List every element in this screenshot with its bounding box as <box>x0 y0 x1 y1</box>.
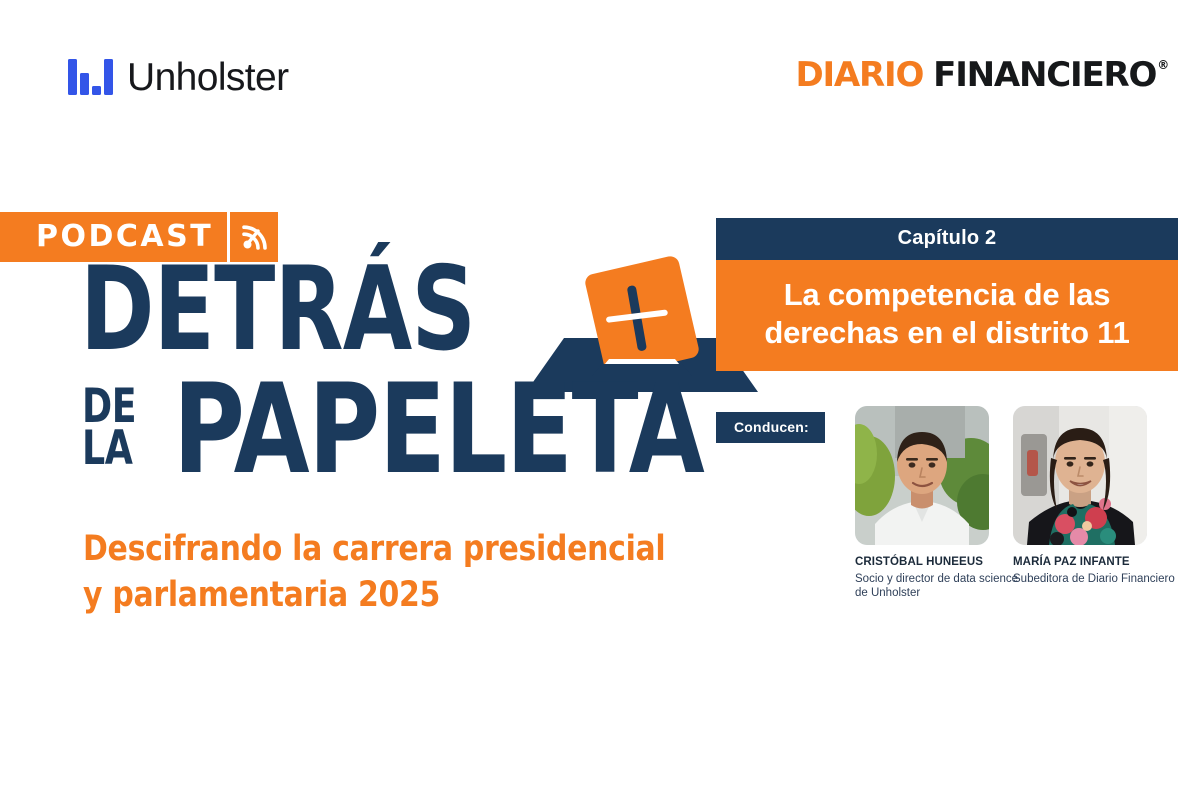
subtitle-line-1: Descifrando la carrera presidencial <box>83 527 691 573</box>
episode-number-label: Capítulo 2 <box>716 218 1178 260</box>
host-portrait-maria-paz-infante <box>1013 406 1147 545</box>
df-word-diario: DIARIO <box>795 58 923 92</box>
host-portrait-cristobal-huneeus <box>855 406 989 545</box>
title-stack-de-la: DE LA <box>82 388 145 467</box>
df-word-financiero: FINANCIERO <box>933 58 1156 92</box>
host-name: CRISTÓBAL HUNEEUS <box>855 556 989 570</box>
episode-title: La competencia de las derechas en el dis… <box>716 260 1178 371</box>
title-word-la: LA <box>82 430 136 468</box>
hosts-label: Conducen: <box>716 412 825 443</box>
host-card-list: CRISTÓBAL HUNEEUS Socio y director de da… <box>855 406 1147 601</box>
host-card: CRISTÓBAL HUNEEUS Socio y director de da… <box>855 406 989 601</box>
podcast-promo-graphic: Unholster DIARIO FINANCIERO ® PODCAST <box>0 0 1200 800</box>
bar-chart-logo-mark-icon <box>68 57 116 97</box>
host-role-line-1: Subeditora de Diario Financiero <box>1013 572 1200 586</box>
hosts-section: Conducen: <box>716 406 1178 616</box>
registered-trademark-icon: ® <box>1157 59 1168 71</box>
diario-financiero-logo: DIARIO FINANCIERO ® <box>795 58 1168 92</box>
host-name: MARÍA PAZ INFANTE <box>1013 556 1147 570</box>
title-line-papeleta: PAPELETA <box>173 380 703 482</box>
title-line-detras: DETRÁS <box>80 262 475 357</box>
episode-panel: Capítulo 2 La competencia de las derecha… <box>716 218 1178 371</box>
episode-title-line-2: derechas en el distrito 11 <box>738 314 1156 352</box>
subtitle-line-2: y parlamentaria 2025 <box>83 573 691 619</box>
episode-title-line-1: La competencia de las <box>738 276 1156 314</box>
show-title-lockup: DETRÁS DE LA PAPELETA <box>78 262 718 522</box>
host-card: MARÍA PAZ INFANTE Subeditora de Diario F… <box>1013 406 1147 601</box>
show-subtitle: Descifrando la carrera presidencial y pa… <box>83 527 691 618</box>
unholster-logo: Unholster <box>68 57 289 97</box>
host-role: Subeditora de Diario Financiero <box>1013 572 1200 586</box>
unholster-wordmark: Unholster <box>127 58 289 97</box>
